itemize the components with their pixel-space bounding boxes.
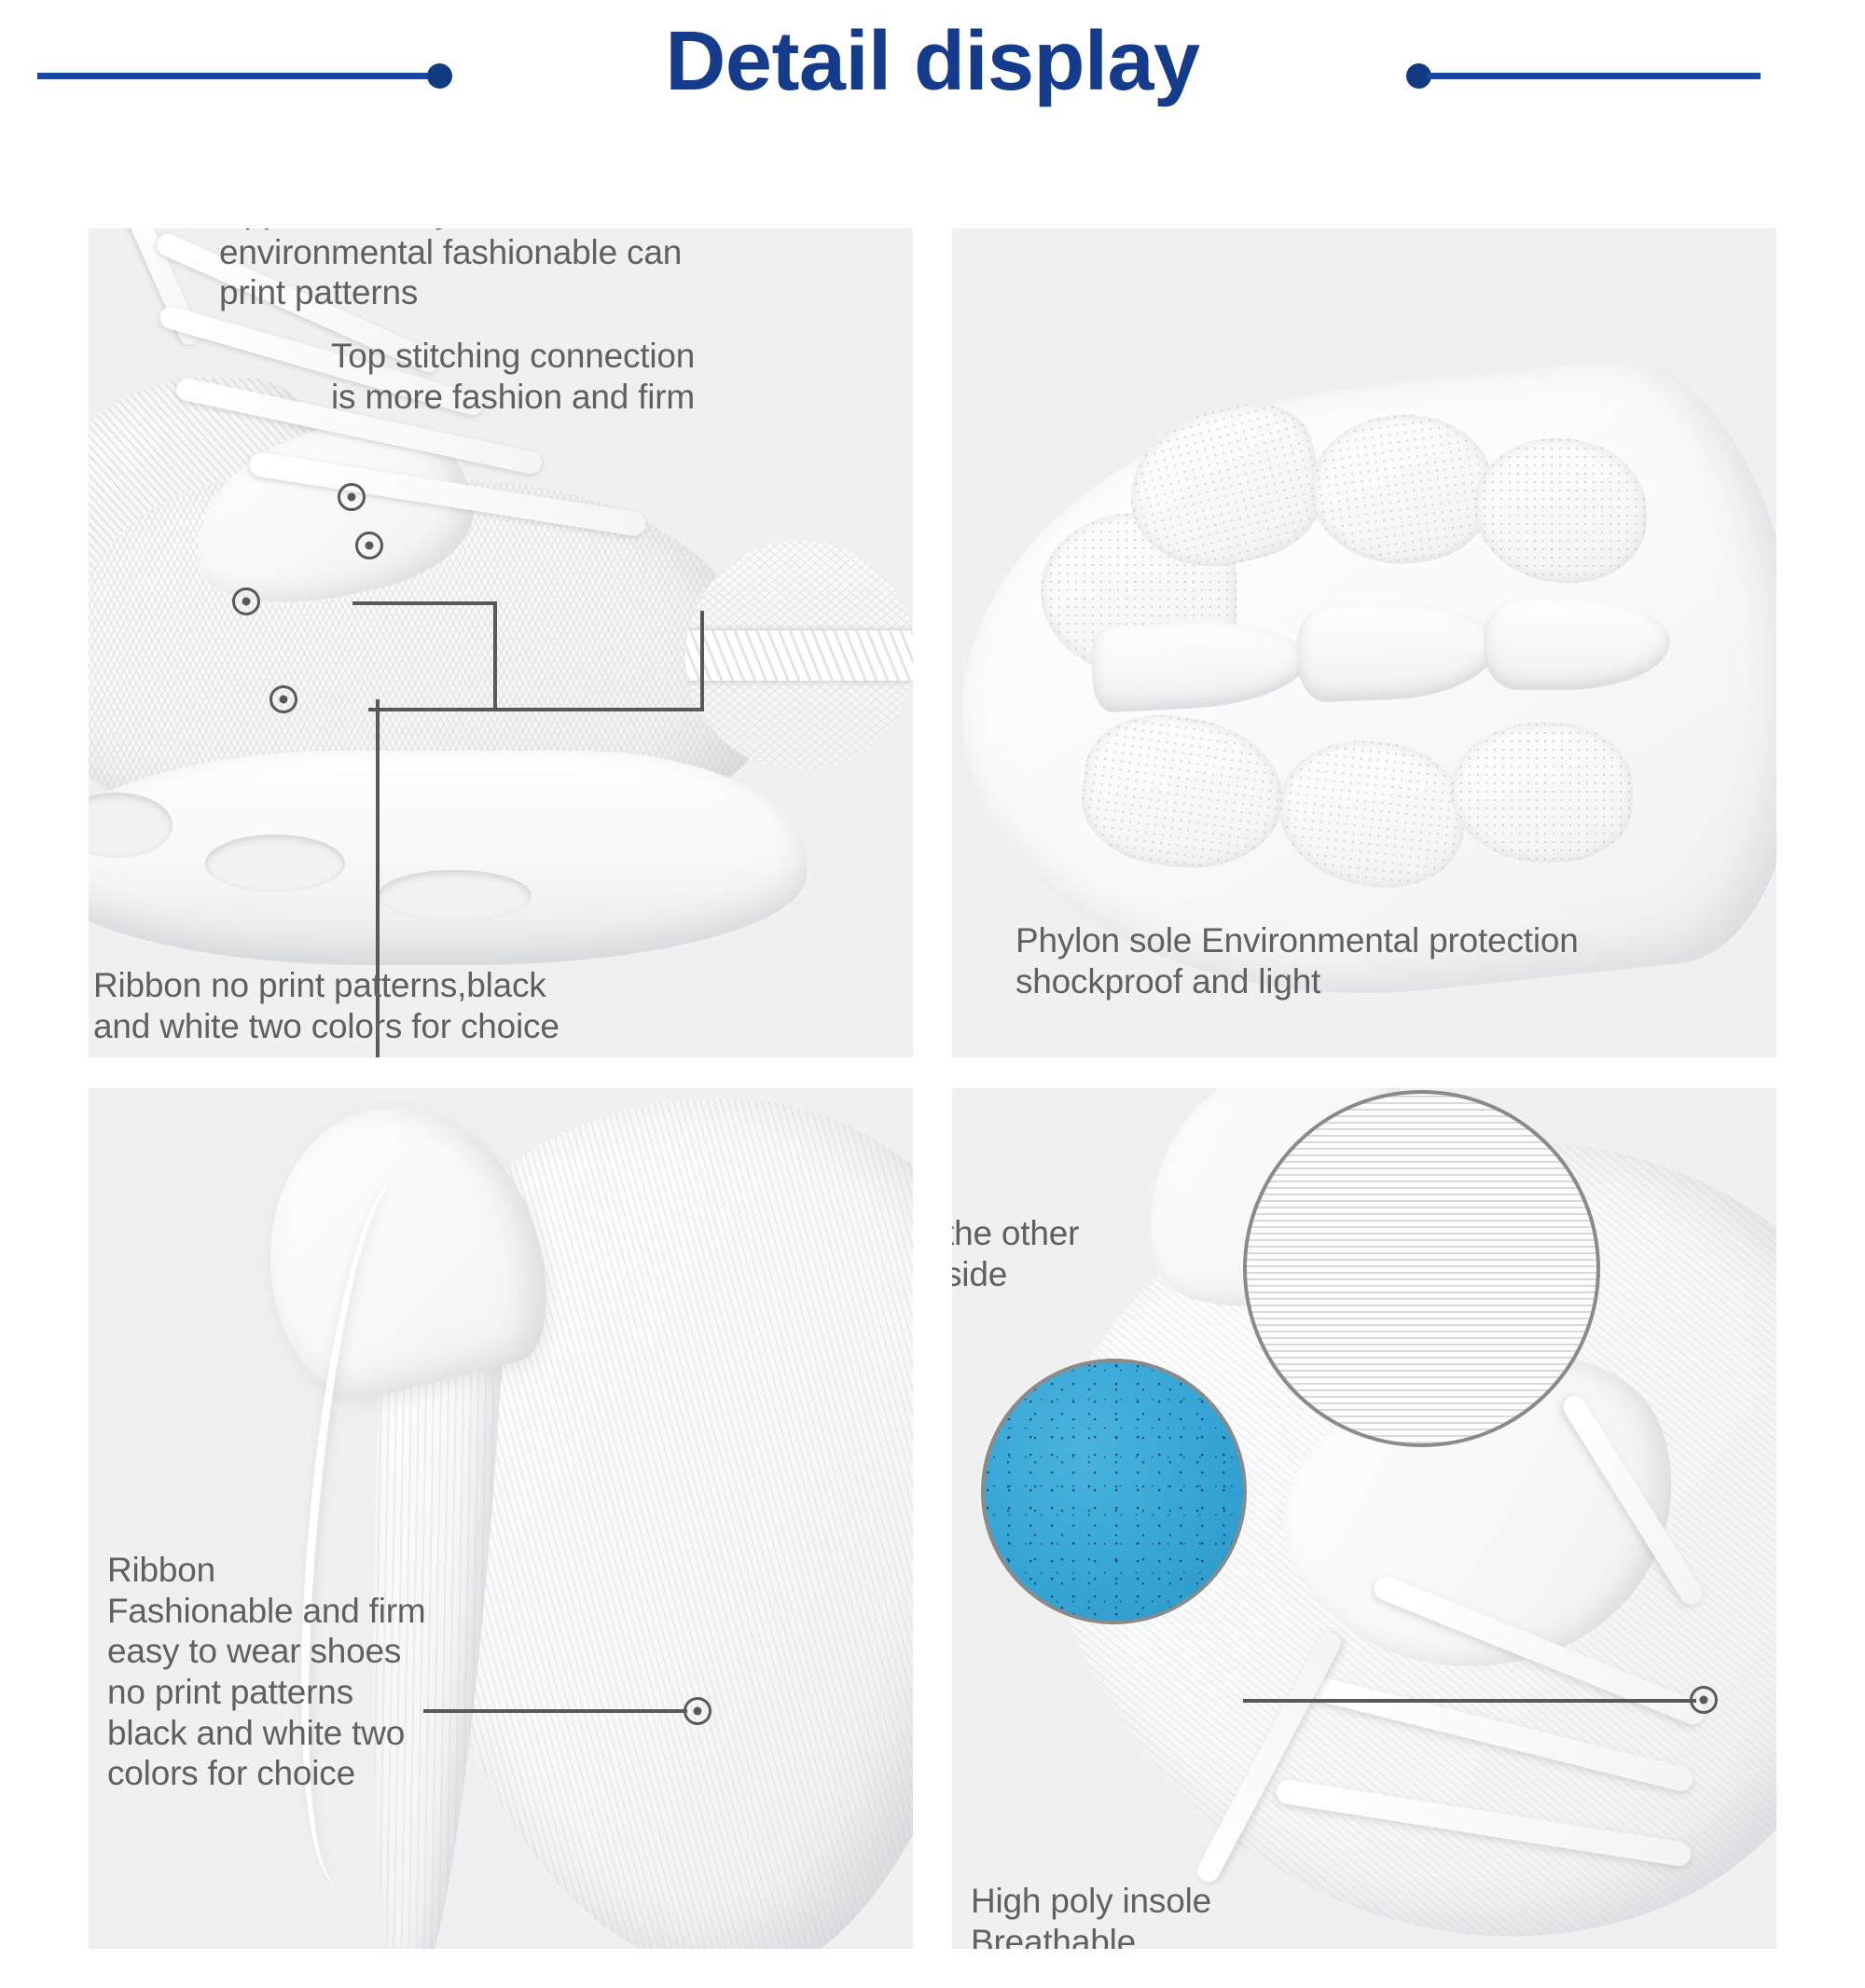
callout-marker-stitching[interactable] (355, 532, 383, 559)
leader-line (700, 611, 704, 711)
callout-marker-ribbon-heel[interactable] (684, 1697, 711, 1725)
sole-notch-art (205, 835, 345, 892)
leader-line (352, 601, 497, 605)
sole-notch-art (378, 870, 532, 921)
callout-marker-insole[interactable] (1690, 1686, 1718, 1714)
shoe-midsole-art (89, 751, 807, 965)
leader-line (1243, 1699, 1696, 1703)
blue-insole-inset (981, 1359, 1247, 1624)
leader-line (493, 601, 497, 711)
detail-panel-grid: Upper three layer mesh breathable enviro… (89, 228, 1776, 1949)
header-rule-right (1427, 73, 1761, 79)
panel-insole: the other side High poly insole Breathab… (952, 1088, 1776, 1949)
note-phylon-sole: Phylon sole Environmental protection sho… (1015, 920, 1761, 1001)
note-top-stitching: Top stitching connection is more fashion… (331, 336, 779, 417)
note-ribbon-heel: Ribbon Fashionable and firm easy to wear… (107, 1550, 508, 1794)
mesh-texture-inset (1243, 1090, 1600, 1447)
note-upper-mesh: Upper three layer mesh breathable enviro… (219, 228, 779, 313)
callout-marker-upper-mesh[interactable] (232, 587, 260, 615)
page-header: Detail display (0, 0, 1865, 177)
callout-marker-ribbon[interactable] (269, 685, 297, 713)
outsole-photo (952, 275, 1776, 872)
stitching-detail-inset (685, 541, 913, 770)
panel-upper-mesh: Upper three layer mesh breathable enviro… (89, 228, 913, 1057)
panel-phylon-sole: Phylon sole Environmental protection sho… (952, 228, 1776, 1057)
outsole-tread-art (1451, 723, 1633, 863)
heel-ribbon-photo (89, 1088, 913, 1949)
note-ribbon-colors: Ribbon no print patterns,black and white… (93, 965, 690, 1046)
note-high-poly-insole: High poly insole Breathable Deodorant (971, 1881, 1362, 1949)
leader-line (368, 708, 704, 711)
stitching-band-art (685, 630, 913, 681)
note-other-side: the other side (952, 1213, 1178, 1294)
panel-ribbon-heel: Ribbon Fashionable and firm easy to wear… (89, 1088, 913, 1949)
callout-marker-lace[interactable] (338, 483, 366, 511)
page-title: Detail display (0, 9, 1865, 115)
